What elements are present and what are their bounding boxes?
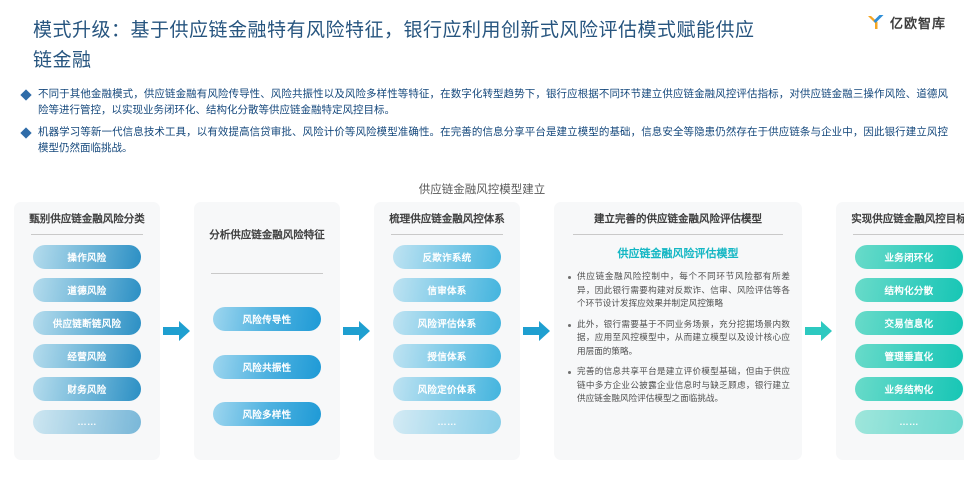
flow-pill[interactable]: 管理垂直化 — [855, 344, 963, 368]
flow-arrow — [520, 202, 554, 460]
flow-diagram-title: 供应链金融风控模型建立 — [0, 181, 964, 197]
logo-text: 亿欧智库 — [890, 13, 946, 32]
divider — [211, 273, 323, 274]
diamond-bullet-icon — [20, 127, 31, 138]
column-heading: 建立完善的供应链金融风险评估模型 — [566, 212, 790, 227]
flow-pill[interactable]: 交易信息化 — [855, 311, 963, 335]
summary-bullets: 不同于其他金融模式，供应链金融有风险传导性、风险共振性以及风险多样性等特征，在数… — [22, 86, 948, 162]
column-heading: 梳理供应链金融风控体系 — [382, 212, 512, 227]
column-heading: 实现供应链金融风控目标 — [844, 212, 964, 227]
flow-pill[interactable]: 经营风险 — [33, 344, 141, 368]
divider — [31, 234, 143, 235]
bullet-item: 不同于其他金融模式，供应链金融有风险传导性、风险共振性以及风险多样性等特征，在数… — [22, 86, 948, 118]
paragraph-text: 完善的信息共享平台是建立评价模型基础，但由于供应链中多方企业公披露企业信息时与缺… — [577, 365, 790, 406]
flow-arrow — [802, 202, 836, 460]
flow-column-assessment-model: 建立完善的供应链金融风险评估模型 供应链金融风险评估模型 供应链金融风险控制中，… — [554, 202, 802, 460]
divider — [853, 234, 964, 235]
column-heading: 甄别供应链金融风险分类 — [22, 212, 152, 227]
paragraph-text: 此外，银行需要基于不同业务场景，充分挖掘场景内数据，应用至风控模型中，从而建立模… — [577, 318, 790, 359]
flow-pill[interactable]: 信审体系 — [393, 278, 501, 302]
flow-column-risk-classification: 甄别供应链金融风险分类 操作风险 道德风险 供应链断链风险 经营风险 财务风险 … — [14, 202, 160, 460]
flow-pill[interactable]: 操作风险 — [33, 245, 141, 269]
flow-pill-more[interactable]: …… — [393, 410, 501, 434]
flow-pill[interactable]: 道德风险 — [33, 278, 141, 302]
flow-column-risk-goals: 实现供应链金融风控目标 业务闭环化 结构化分散 交易信息化 管理垂直化 业务结构… — [836, 202, 964, 460]
flow-arrow — [160, 202, 194, 460]
flow-pill[interactable]: 供应链断链风险 — [33, 311, 141, 335]
bullet-text: 机器学习等新一代信息技术工具，以有效提高信贷审批、风险计价等风险模型准确性。在完… — [38, 124, 948, 156]
flow-pill[interactable]: 结构化分散 — [855, 278, 963, 302]
paragraph-text: 供应链金融风险控制中，每个不同环节风险都有所差异，因此银行需要构建对反欺诈、信审… — [577, 270, 790, 311]
flow-pill[interactable]: 业务结构化 — [855, 377, 963, 401]
divider — [573, 234, 784, 235]
flow-pill-more[interactable]: …… — [855, 410, 963, 434]
flow-pill[interactable]: 风险评估体系 — [393, 311, 501, 335]
flow-pill[interactable]: 财务风险 — [33, 377, 141, 401]
dot-bullet-icon — [568, 371, 571, 374]
flow-pill[interactable]: 授信体系 — [393, 344, 501, 368]
flow-pill[interactable]: 反欺诈系统 — [393, 245, 501, 269]
dot-bullet-icon — [568, 324, 571, 327]
logo-y-icon — [866, 12, 886, 32]
flow-pill[interactable]: 风险定价体系 — [393, 377, 501, 401]
flow-pill[interactable]: 风险多样性 — [213, 402, 321, 426]
bullet-item: 机器学习等新一代信息技术工具，以有效提高信贷审批、风险计价等风险模型准确性。在完… — [22, 124, 948, 156]
flow-diagram: 甄别供应链金融风险分类 操作风险 道德风险 供应链断链风险 经营风险 财务风险 … — [14, 202, 964, 460]
diamond-bullet-icon — [20, 89, 31, 100]
flow-pill[interactable]: 业务闭环化 — [855, 245, 963, 269]
model-paragraph: 供应链金融风险控制中，每个不同环节风险都有所差异，因此银行需要构建对反欺诈、信审… — [566, 270, 790, 311]
model-paragraph: 此外，银行需要基于不同业务场景，充分挖掘场景内数据，应用至风控模型中，从而建立模… — [566, 318, 790, 359]
model-subheading: 供应链金融风险评估模型 — [566, 245, 790, 261]
model-paragraph: 完善的信息共享平台是建立评价模型基础，但由于供应链中多方企业公披露企业信息时与缺… — [566, 365, 790, 406]
brand-logo: 亿欧智库 — [866, 12, 946, 32]
dot-bullet-icon — [568, 276, 571, 279]
divider — [391, 234, 503, 235]
flow-pill-more[interactable]: …… — [33, 410, 141, 434]
flow-column-risk-features: 分析供应链金融风险特征 风险传导性 风险共振性 风险多样性 — [194, 202, 340, 460]
flow-pill[interactable]: 风险共振性 — [213, 355, 321, 379]
page-title: 模式升级：基于供应链金融特有风险特征，银行应利用创新式风险评估模式赋能供应链金融 — [33, 16, 763, 76]
slide: 模式升级：基于供应链金融特有风险特征，银行应利用创新式风险评估模式赋能供应链金融… — [0, 0, 964, 480]
bullet-text: 不同于其他金融模式，供应链金融有风险传导性、风险共振性以及风险多样性等特征，在数… — [38, 86, 948, 118]
flow-arrow — [340, 202, 374, 460]
flow-column-risk-control-system: 梳理供应链金融风控体系 反欺诈系统 信审体系 风险评估体系 授信体系 风险定价体… — [374, 202, 520, 460]
flow-pill[interactable]: 风险传导性 — [213, 307, 321, 331]
column-heading: 分析供应链金融风险特征 — [202, 228, 332, 243]
